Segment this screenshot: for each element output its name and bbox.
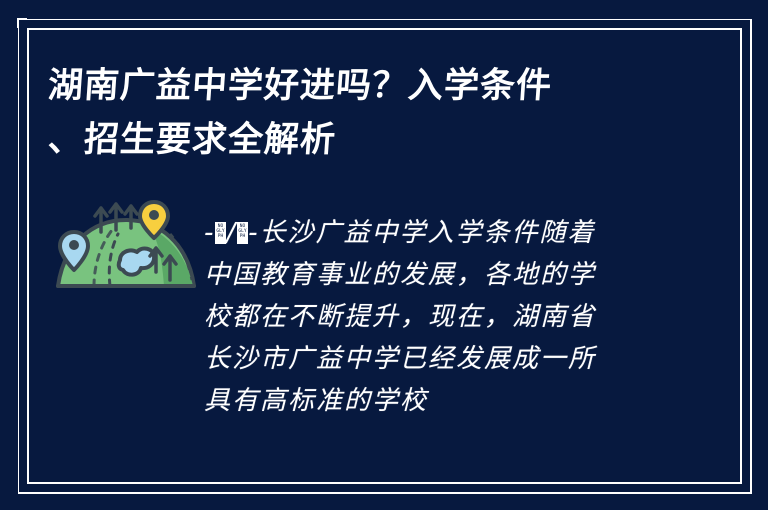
frame-mask-top [27, 10, 752, 19]
body-line-1-slash: / [226, 218, 237, 248]
frame-mask-left [10, 28, 18, 494]
title-line-1: 湖南广益中学好进吗？入学条件 [46, 60, 710, 112]
body-line-1: -NOGLYPH/NOGLYPH-长沙广益中学入学条件随着 [204, 212, 674, 254]
body-line-3: 校都在不断提升，现在，湖南省 [204, 296, 674, 338]
map-illustration [54, 198, 198, 302]
missing-glyph-box-1: NOGLYPH [215, 222, 226, 244]
body-line-4: 长沙市广益中学已经发展成一所 [204, 338, 674, 380]
poster-canvas: 湖南广益中学好进吗？入学条件 、招生要求全解析 [0, 0, 768, 510]
title-line-2: 、招生要求全解析 [46, 114, 710, 166]
body-line-5: 具有高标准的学校 [204, 380, 674, 422]
missing-glyph-box-2: NOGLYPH [237, 222, 248, 244]
body-line-1-suffix: -长沙广益中学入学条件随着 [248, 218, 595, 248]
poster-body-text: -NOGLYPH/NOGLYPH-长沙广益中学入学条件随着 中国教育事业的发展，… [204, 212, 674, 422]
body-line-1-prefix: - [204, 218, 215, 248]
body-line-2: 中国教育事业的发展，各地的学 [204, 254, 674, 296]
poster-title: 湖南广益中学好进吗？入学条件 、招生要求全解析 [48, 60, 708, 166]
